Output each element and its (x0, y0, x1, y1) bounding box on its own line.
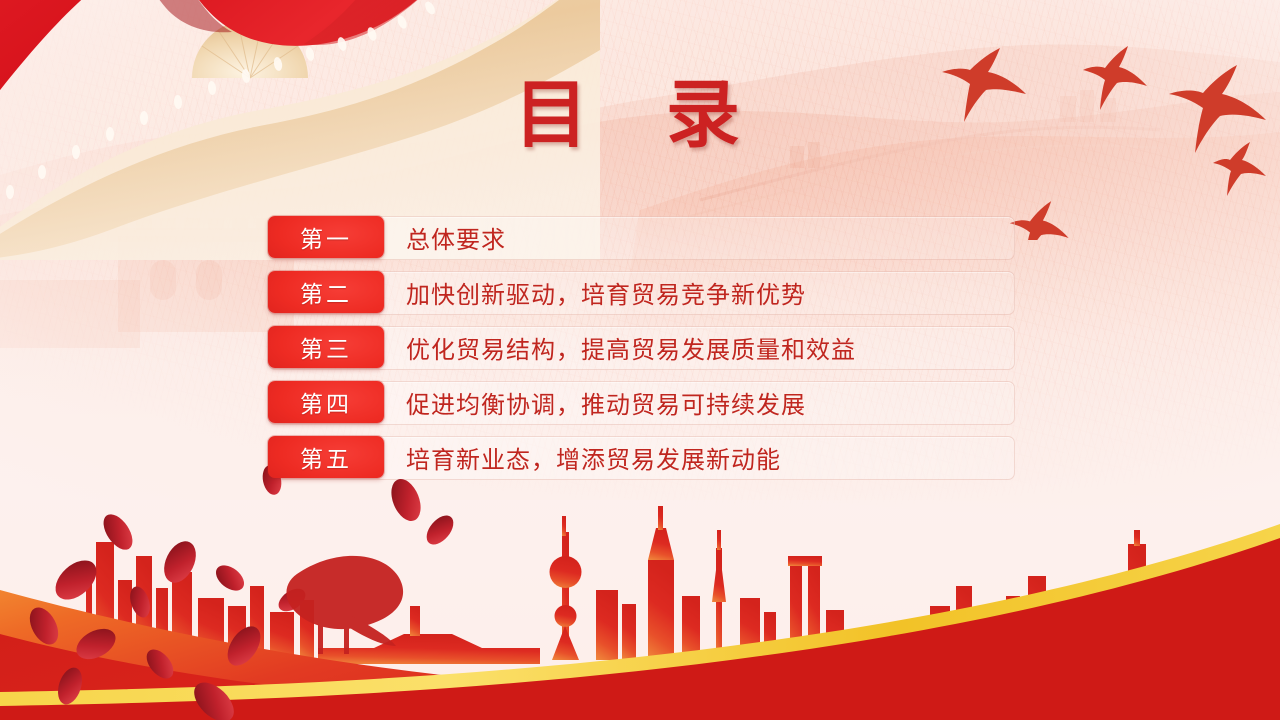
toc-item-1[interactable]: 第一 总体要求 (268, 216, 1016, 258)
toc-item-label: 培育新业态，增添贸易发展新动能 (406, 436, 781, 478)
toc-item-label: 优化贸易结构，提高贸易发展质量和效益 (406, 326, 856, 368)
page-title: 目 录 (0, 78, 1280, 152)
toc-item-label: 加快创新驱动，培育贸易竞争新优势 (406, 271, 806, 313)
toc-badge: 第三 (268, 326, 384, 368)
toc-badge: 第五 (268, 436, 384, 478)
toc-badge: 第四 (268, 381, 384, 423)
toc-item-label: 促进均衡协调，推动贸易可持续发展 (406, 381, 806, 423)
toc-item-2[interactable]: 第二 加快创新驱动，培育贸易竞争新优势 (268, 271, 1016, 313)
toc-badge: 第二 (268, 271, 384, 313)
toc-item-label: 总体要求 (406, 216, 506, 258)
toc-item-3[interactable]: 第三 优化贸易结构，提高贸易发展质量和效益 (268, 326, 1016, 368)
presentation-slide: 目 录 第一 总体要求 第二 加快创新驱动，培育贸易竞争新优势 第三 优化贸易结… (0, 0, 1280, 720)
toc-item-4[interactable]: 第四 促进均衡协调，推动贸易可持续发展 (268, 381, 1016, 423)
toc-badge: 第一 (268, 216, 384, 258)
